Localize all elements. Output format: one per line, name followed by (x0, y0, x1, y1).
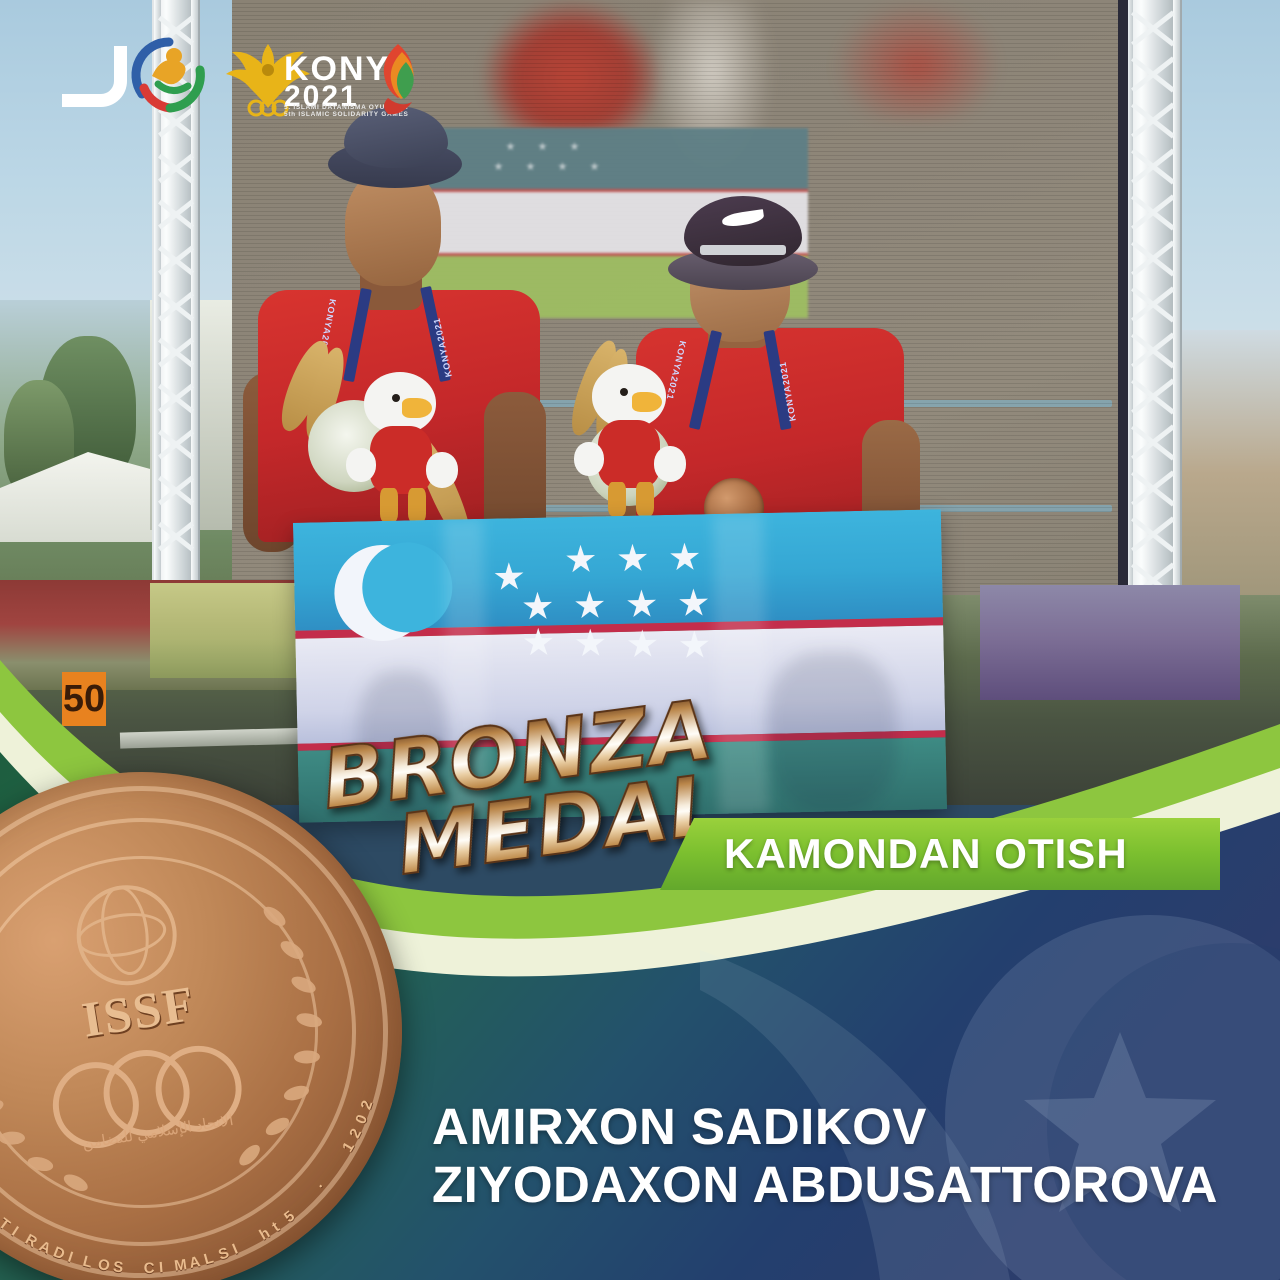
medal-rim-char: 0 (352, 1112, 371, 1126)
medal-rim-char: t (269, 1219, 283, 1236)
sport-banner: KAMONDAN OTISH (660, 818, 1220, 890)
medal-rim-char: 2 (346, 1126, 365, 1141)
medal-rim-char: A (36, 1238, 53, 1258)
athlete-names: AMIRXON SADIKOV ZIYODAXON ABDUSATTOROVA (432, 1098, 1232, 1214)
medal-rim-char: 2 (358, 1098, 377, 1111)
medal-rim-char: I (230, 1241, 240, 1258)
medal-rim-char: C (144, 1260, 155, 1277)
medal-rim-char (128, 1260, 133, 1277)
medal-rim-char: I (66, 1249, 75, 1266)
medal-rim-char (323, 1168, 339, 1182)
medal-rim-char: 5 (281, 1208, 298, 1227)
medal-rim-char: · (313, 1179, 329, 1194)
medal-rim-char: S (112, 1258, 124, 1276)
medal-rim-char: M (173, 1256, 188, 1275)
medal-rim-char (303, 1190, 318, 1205)
medal-rim-char: I (158, 1259, 163, 1276)
medal-rim-char: L (81, 1253, 94, 1272)
medal-rim-char: S (216, 1244, 231, 1263)
medal-rim-char: h (256, 1225, 272, 1244)
medal-rim-char (243, 1234, 254, 1251)
athlete-name-2: ZIYODAXON ABDUSATTOROVA (432, 1156, 1232, 1214)
medal-rim-char (292, 1201, 306, 1217)
athlete-name-1: AMIRXON SADIKOV (432, 1098, 1232, 1156)
medal-rim-char: O (96, 1256, 111, 1275)
medal-rim-char: 1 (339, 1139, 358, 1155)
medal-rim-char: T (0, 1215, 13, 1234)
sport-label: KAMONDAN OTISH (724, 830, 1128, 878)
medal-rim-char (331, 1156, 347, 1169)
medal-rim-char: L (202, 1250, 215, 1269)
medal-rim-char: A (188, 1253, 202, 1272)
medal-announcement-graphic: 50 KONYA2021 KONYA2021 (0, 0, 1280, 1280)
medal-rim-char: D (51, 1244, 67, 1264)
medal-rim-char: I (9, 1223, 22, 1240)
